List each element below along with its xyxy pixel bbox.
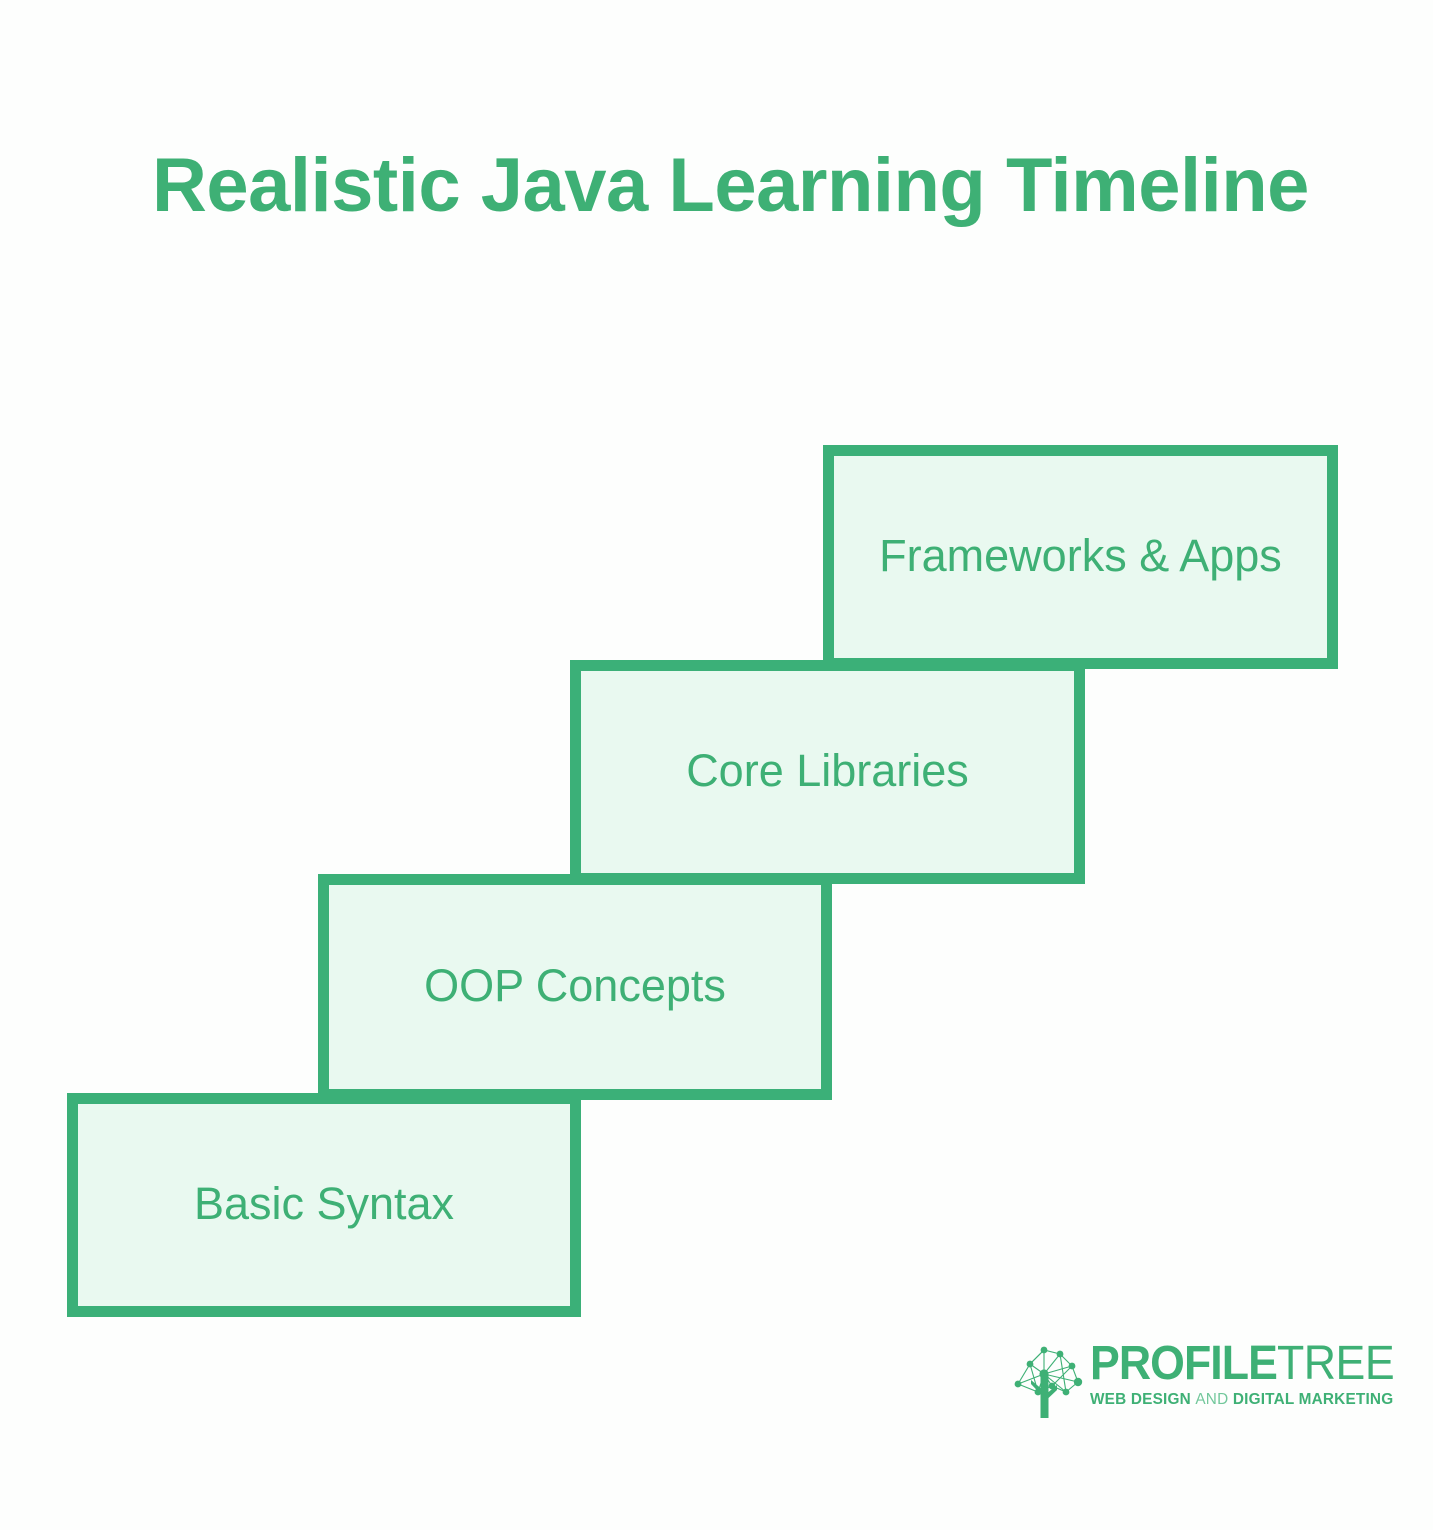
logo-wordmark: PROFILETREE <box>1090 1341 1394 1387</box>
profiletree-logo: PROFILETREE WEB DESIGN AND DIGITAL MARKE… <box>1008 1340 1348 1430</box>
step-core-libraries: Core Libraries <box>570 660 1085 884</box>
step-basic-syntax: Basic Syntax <box>67 1093 581 1317</box>
step-label: OOP Concepts <box>424 963 726 1008</box>
infographic-canvas: Realistic Java Learning Timeline Framewo… <box>0 0 1433 1530</box>
step-label: Basic Syntax <box>194 1181 454 1226</box>
tagline-digital-marketing: DIGITAL MARKETING <box>1233 1391 1394 1408</box>
step-frameworks-apps: Frameworks & Apps <box>823 445 1338 669</box>
tagline-web-design: WEB DESIGN <box>1090 1391 1191 1408</box>
tagline-and: AND <box>1195 1391 1228 1408</box>
step-oop-concepts: OOP Concepts <box>318 874 832 1100</box>
logo-tagline: WEB DESIGN AND DIGITAL MARKETING <box>1090 1391 1414 1409</box>
step-label: Core Libraries <box>686 748 969 793</box>
logo-word-profile: PROFILE <box>1090 1337 1277 1390</box>
logo-text-block: PROFILETREE WEB DESIGN AND DIGITAL MARKE… <box>1090 1340 1417 1409</box>
logo-word-tree: TREE <box>1277 1337 1394 1390</box>
tree-network-icon <box>1008 1340 1086 1420</box>
page-title: Realistic Java Learning Timeline <box>152 148 1309 224</box>
step-label: Frameworks & Apps <box>879 533 1282 578</box>
